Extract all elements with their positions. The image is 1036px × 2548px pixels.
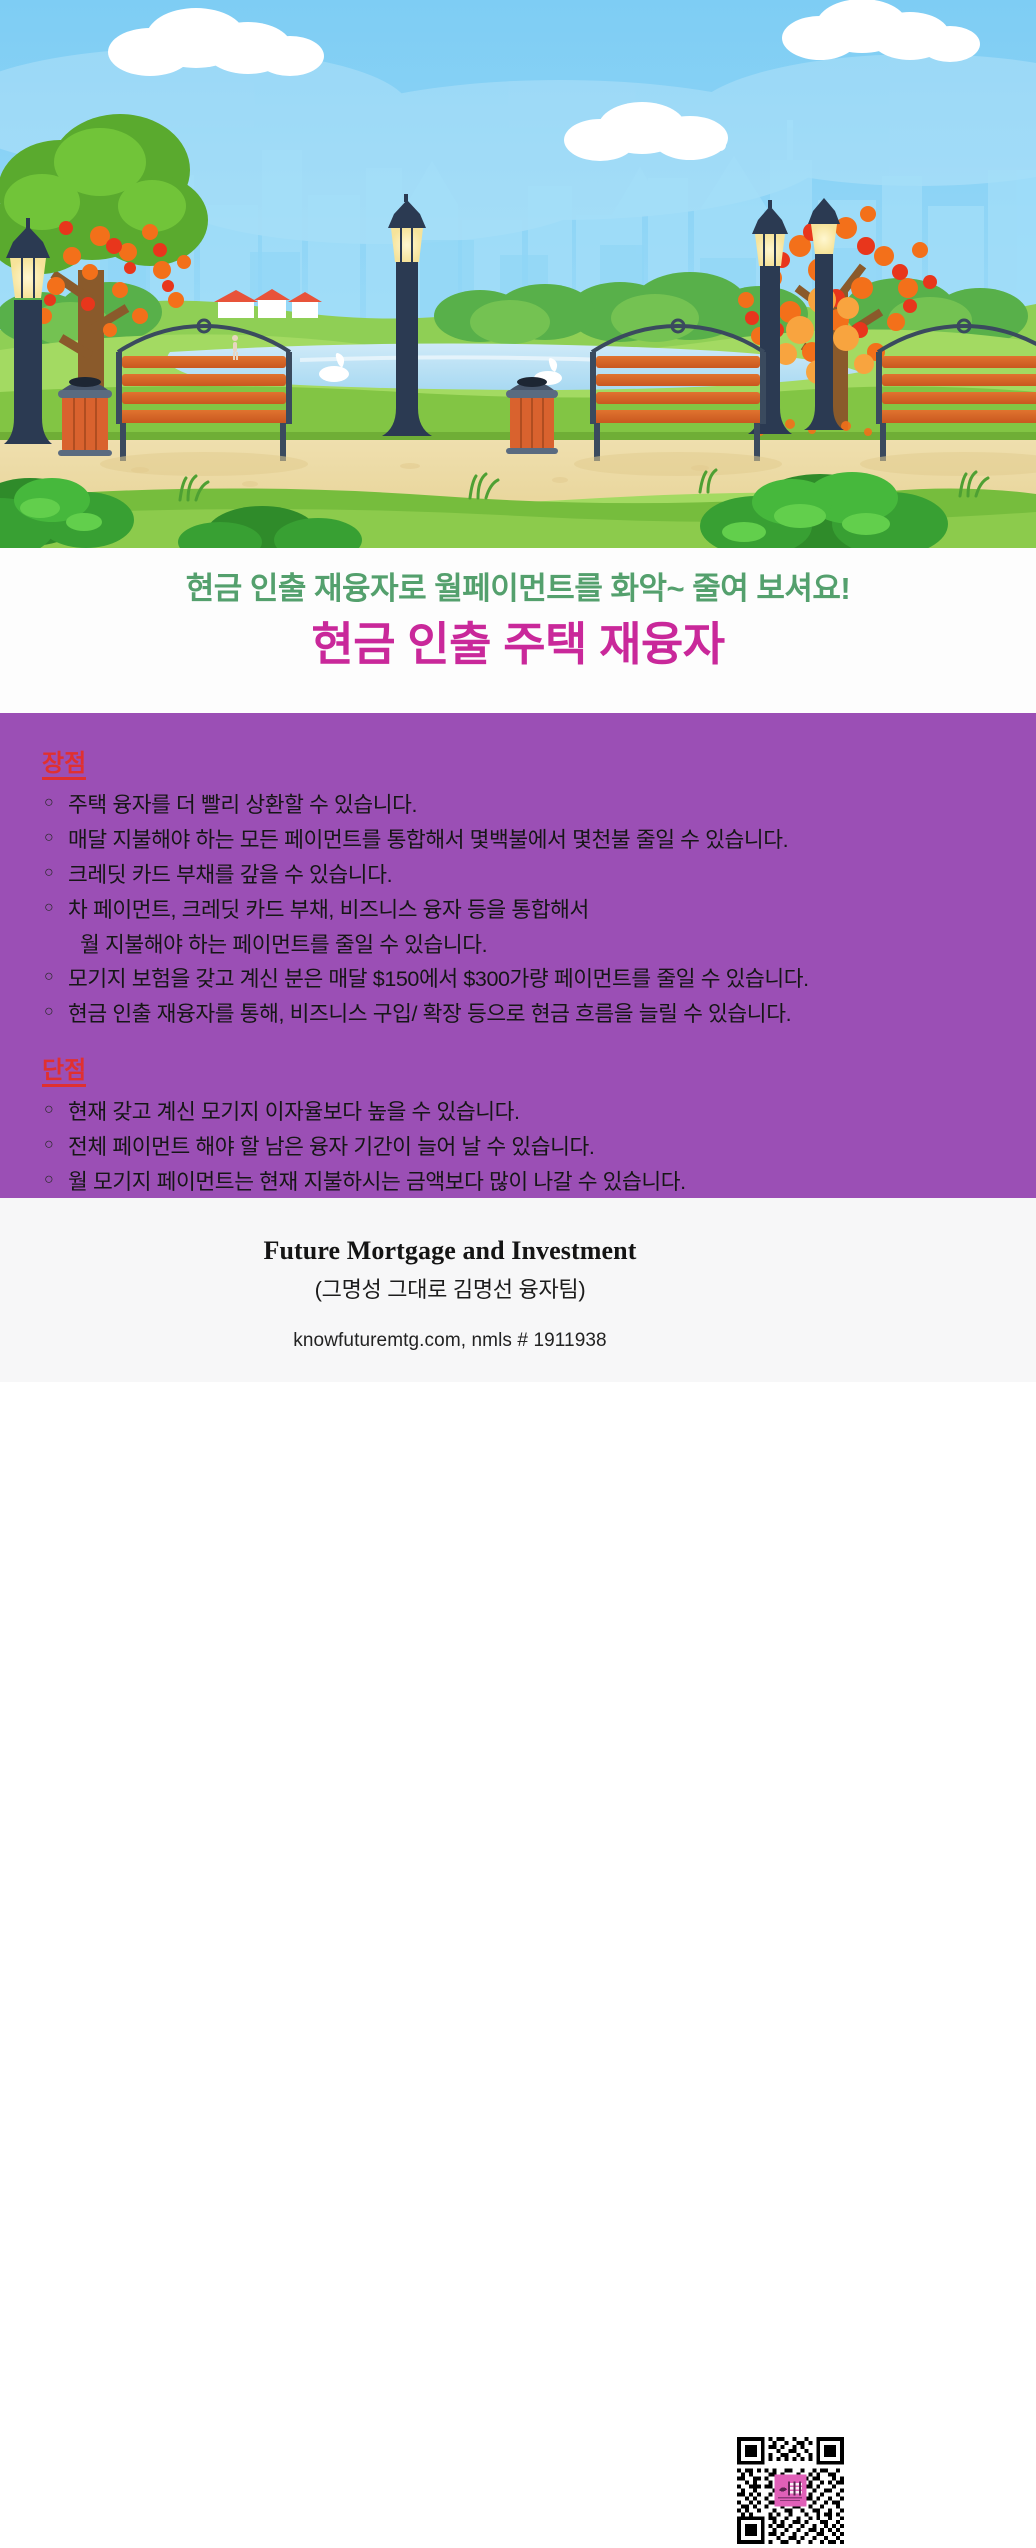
list-item-continuation: 월 지불해야 하는 페이먼트를 줄일 수 있습니다. <box>44 928 1036 963</box>
list-item-text: 월 모기지 페이먼트는 현재 지불하시는 금액보다 많이 나갈 수 있습니다. <box>68 1170 686 1194</box>
website-and-nmls[interactable]: knowfuturemtg.com, nmls # 1911938 <box>0 1330 900 1352</box>
bullet-icon: ○ <box>44 893 53 923</box>
bullet-icon: ○ <box>44 1130 53 1160</box>
company-name: Future Mortgage and Investment <box>0 1236 900 1266</box>
headline-secondary: 현금 인출 주택 재융자 <box>0 617 1036 672</box>
trash-can-center <box>506 377 558 454</box>
bullet-icon: ○ <box>44 997 53 1027</box>
list-item-text: 현재 갖고 계신 모기지 이자율보다 높을 수 있습니다. <box>68 1100 520 1124</box>
bullet-icon: ○ <box>44 962 53 992</box>
headline-band: 현금 인출 재융자로 월페이먼트를 화악~ 줄여 보셔요! 현금 인출 주택 재… <box>0 548 1036 713</box>
footer-text-block: Future Mortgage and Investment (그명성 그대로 … <box>0 1236 900 1352</box>
bullet-icon: ○ <box>44 823 53 853</box>
list-item-text: 주택 융자를 더 빨리 상환할 수 있습니다. <box>68 793 417 817</box>
section-gap <box>0 1032 1036 1058</box>
list-item-text: 모기지 보험을 갖고 계신 분은 매달 $150에서 $300가량 페이먼트를 … <box>68 967 809 991</box>
qr-code-graphic[interactable] <box>733 2433 848 2548</box>
list-item: ○ 현금 인출 재융자를 통해, 비즈니스 구입/ 확장 등으로 현금 흐름을 … <box>44 997 1036 1032</box>
pros-heading: 장점 <box>42 751 86 780</box>
list-item-text: 크레딧 카드 부채를 갚을 수 있습니다. <box>68 863 392 887</box>
cons-heading: 단점 <box>42 1058 86 1087</box>
bullet-icon: ○ <box>44 1095 53 1125</box>
village-houses <box>214 289 322 318</box>
list-item: ○ 주택 융자를 더 빨리 상환할 수 있습니다. <box>44 788 1036 823</box>
autumn-park-illustration <box>0 0 1036 548</box>
bullet-icon: ○ <box>44 788 53 818</box>
poster-root: 현금 인출 재융자로 월페이먼트를 화악~ 줄여 보셔요! 현금 인출 주택 재… <box>0 0 1036 1382</box>
qr-center-logo <box>775 2475 807 2507</box>
company-name-korean: (그명성 그대로 김명선 융자팀) <box>0 1272 900 1304</box>
list-item-text: 현금 인출 재융자를 통해, 비즈니스 구입/ 확장 등으로 현금 흐름을 늘릴… <box>68 1002 791 1026</box>
headline-primary: 현금 인출 재융자로 월페이먼트를 화악~ 줄여 보셔요! <box>0 570 1036 607</box>
bullet-icon: ○ <box>44 858 53 888</box>
list-item: ○ 차 페이먼트, 크레딧 카드 부채, 비즈니스 융자 등을 통합해서 <box>44 893 1036 928</box>
list-item-text: 전체 페이먼트 해야 할 남은 융자 기간이 늘어 날 수 있습니다. <box>68 1135 594 1159</box>
benefits-drawbacks-section: 장점 ○ 주택 융자를 더 빨리 상환할 수 있습니다. ○ 매달 지불해야 하… <box>0 713 1036 1198</box>
list-item-text: 차 페이먼트, 크레딧 카드 부채, 비즈니스 융자 등을 통합해서 <box>68 898 589 922</box>
list-item-text: 월 지불해야 하는 페이먼트를 줄일 수 있습니다. <box>80 933 487 957</box>
list-item: ○ 모기지 보험을 갖고 계신 분은 매달 $150에서 $300가량 페이먼트… <box>44 962 1036 997</box>
list-item: ○ 전체 페이먼트 해야 할 남은 융자 기간이 늘어 날 수 있습니다. <box>44 1130 1036 1165</box>
pros-list: ○ 주택 융자를 더 빨리 상환할 수 있습니다. ○ 매달 지불해야 하는 모… <box>0 788 1036 1032</box>
bullet-icon: ○ <box>44 1165 53 1195</box>
list-item: ○ 크레딧 카드 부채를 갚을 수 있습니다. <box>44 858 1036 893</box>
list-item: ○ 매달 지불해야 하는 모든 페이먼트를 통합해서 몇백불에서 몇천불 줄일 … <box>44 823 1036 858</box>
list-item: ○ 월 모기지 페이먼트는 현재 지불하시는 금액보다 많이 나갈 수 있습니다… <box>44 1165 1036 1200</box>
footer: Future Mortgage and Investment (그명성 그대로 … <box>0 1198 1036 1382</box>
cons-list: ○ 현재 갖고 계신 모기지 이자율보다 높을 수 있습니다. ○ 전체 페이먼… <box>0 1095 1036 1199</box>
list-item: ○ 현재 갖고 계신 모기지 이자율보다 높을 수 있습니다. <box>44 1095 1036 1130</box>
trash-can-left <box>58 377 112 456</box>
qr-code[interactable] <box>733 2433 848 2548</box>
list-item-text: 매달 지불해야 하는 모든 페이먼트를 통합해서 몇백불에서 몇천불 줄일 수 … <box>68 828 788 852</box>
